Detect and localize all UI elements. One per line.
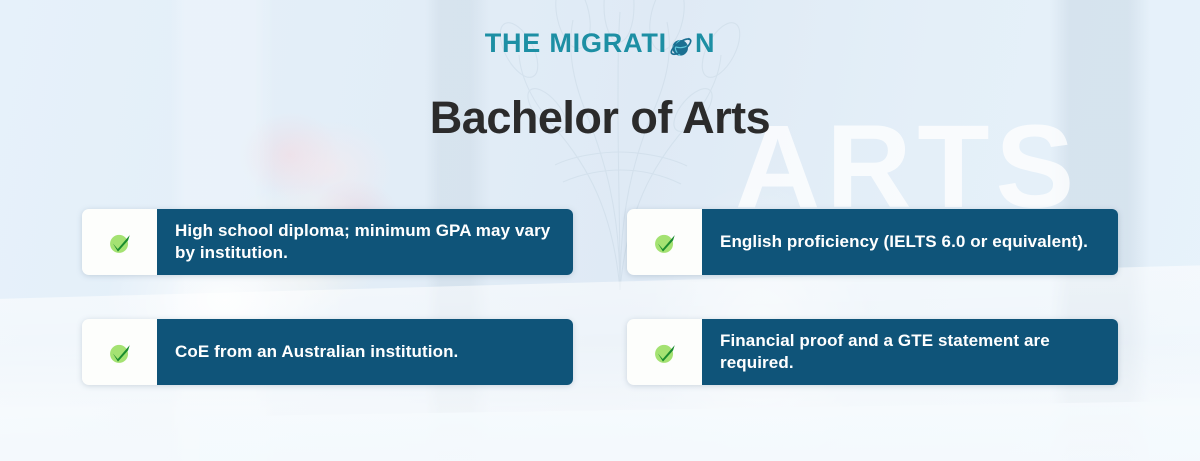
- requirement-card-body: CoE from an Australian institution.: [157, 319, 573, 385]
- requirement-card-body: English proficiency (IELTS 6.0 or equiva…: [702, 209, 1118, 275]
- requirement-text: High school diploma; minimum GPA may var…: [175, 220, 557, 264]
- brand-logo[interactable]: THE MIGRATI N: [0, 30, 1200, 57]
- page-title: Bachelor of Arts: [0, 93, 1200, 143]
- requirement-text: CoE from an Australian institution.: [175, 341, 458, 363]
- banner-stage: ARTS THE MIGRATI N Bachelor of Arts: [0, 0, 1200, 461]
- requirement-card[interactable]: CoE from an Australian institution.: [82, 319, 573, 385]
- requirement-icon-box: [627, 319, 702, 385]
- requirement-icon-box: [82, 209, 157, 275]
- green-check-icon: [105, 337, 135, 367]
- requirement-card[interactable]: High school diploma; minimum GPA may var…: [82, 209, 573, 275]
- requirement-card-body: High school diploma; minimum GPA may var…: [157, 209, 573, 275]
- requirement-text: English proficiency (IELTS 6.0 or equiva…: [720, 231, 1088, 253]
- green-check-icon: [650, 227, 680, 257]
- brand-logo-text-before: THE MIGRATI: [485, 30, 667, 57]
- green-check-icon: [650, 337, 680, 367]
- green-check-icon: [105, 227, 135, 257]
- brand-logo-text-after: N: [695, 30, 715, 57]
- requirement-card[interactable]: Financial proof and a GTE statement are …: [627, 319, 1118, 385]
- requirements-list: High school diploma; minimum GPA may var…: [82, 209, 1118, 385]
- requirement-card-body: Financial proof and a GTE statement are …: [702, 319, 1118, 385]
- requirement-icon-box: [627, 209, 702, 275]
- requirement-icon-box: [82, 319, 157, 385]
- requirement-card[interactable]: English proficiency (IELTS 6.0 or equiva…: [627, 209, 1118, 275]
- globe-orbit-icon: [668, 34, 694, 60]
- requirement-text: Financial proof and a GTE statement are …: [720, 330, 1102, 374]
- banner-content: THE MIGRATI N Bachelor of Arts: [0, 0, 1200, 461]
